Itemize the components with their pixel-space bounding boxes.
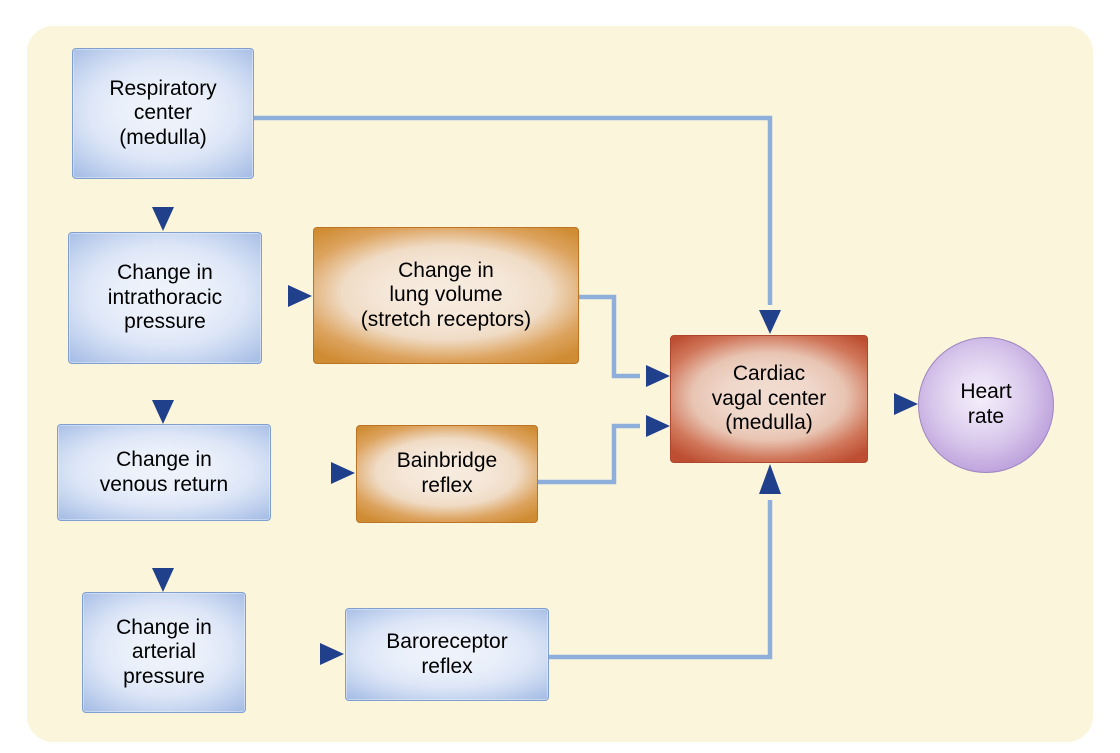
node-label: Cardiac vagal center (medulla) xyxy=(706,362,832,436)
node-cardiac-vagal-center[interactable]: Cardiac vagal center (medulla) xyxy=(670,335,868,463)
node-label: Respiratory center (medulla) xyxy=(103,77,222,151)
node-label: Baroreceptor reflex xyxy=(380,630,513,679)
node-label: Change in intrathoracic pressure xyxy=(102,261,228,335)
node-label: Heart rate xyxy=(954,380,1017,429)
edge-venousreturn-to-bainbridge xyxy=(271,462,355,484)
edge-intrathoracic-to-venousreturn xyxy=(152,364,174,424)
edge-lungvolume-to-cardiacvagal xyxy=(579,297,670,387)
node-label: Change in venous return xyxy=(94,448,234,497)
node-respiratory-center[interactable]: Respiratory center (medulla) xyxy=(72,48,254,179)
node-label: Change in lung volume (stretch receptors… xyxy=(355,259,537,333)
edge-arterial-to-baroreceptor xyxy=(246,643,344,665)
node-heart-rate[interactable]: Heart rate xyxy=(918,337,1054,473)
edge-intrathoracic-to-lungvolume xyxy=(262,285,312,307)
node-label: Change in arterial pressure xyxy=(110,616,218,690)
edge-venousreturn-to-arterial xyxy=(152,521,174,592)
node-baroreceptor-reflex[interactable]: Baroreceptor reflex xyxy=(345,608,549,701)
edge-cardiacvagal-to-heartrate xyxy=(868,393,918,415)
node-change-in-venous-return[interactable]: Change in venous return xyxy=(57,424,271,521)
edge-baroreceptor-to-cardiacvagal xyxy=(549,464,781,657)
node-change-in-arterial-pressure[interactable]: Change in arterial pressure xyxy=(82,592,246,713)
node-bainbridge-reflex[interactable]: Bainbridge reflex xyxy=(356,425,538,523)
node-label: Bainbridge reflex xyxy=(391,449,503,498)
edge-bainbridge-to-cardiacvagal xyxy=(538,415,670,482)
edge-respiratory-to-intrathoracic xyxy=(152,179,174,231)
node-change-in-intrathoracic-pressure[interactable]: Change in intrathoracic pressure xyxy=(68,232,262,364)
node-change-in-lung-volume[interactable]: Change in lung volume (stretch receptors… xyxy=(313,227,579,364)
diagram-stage: Respiratory center (medulla) Change in i… xyxy=(0,0,1120,753)
